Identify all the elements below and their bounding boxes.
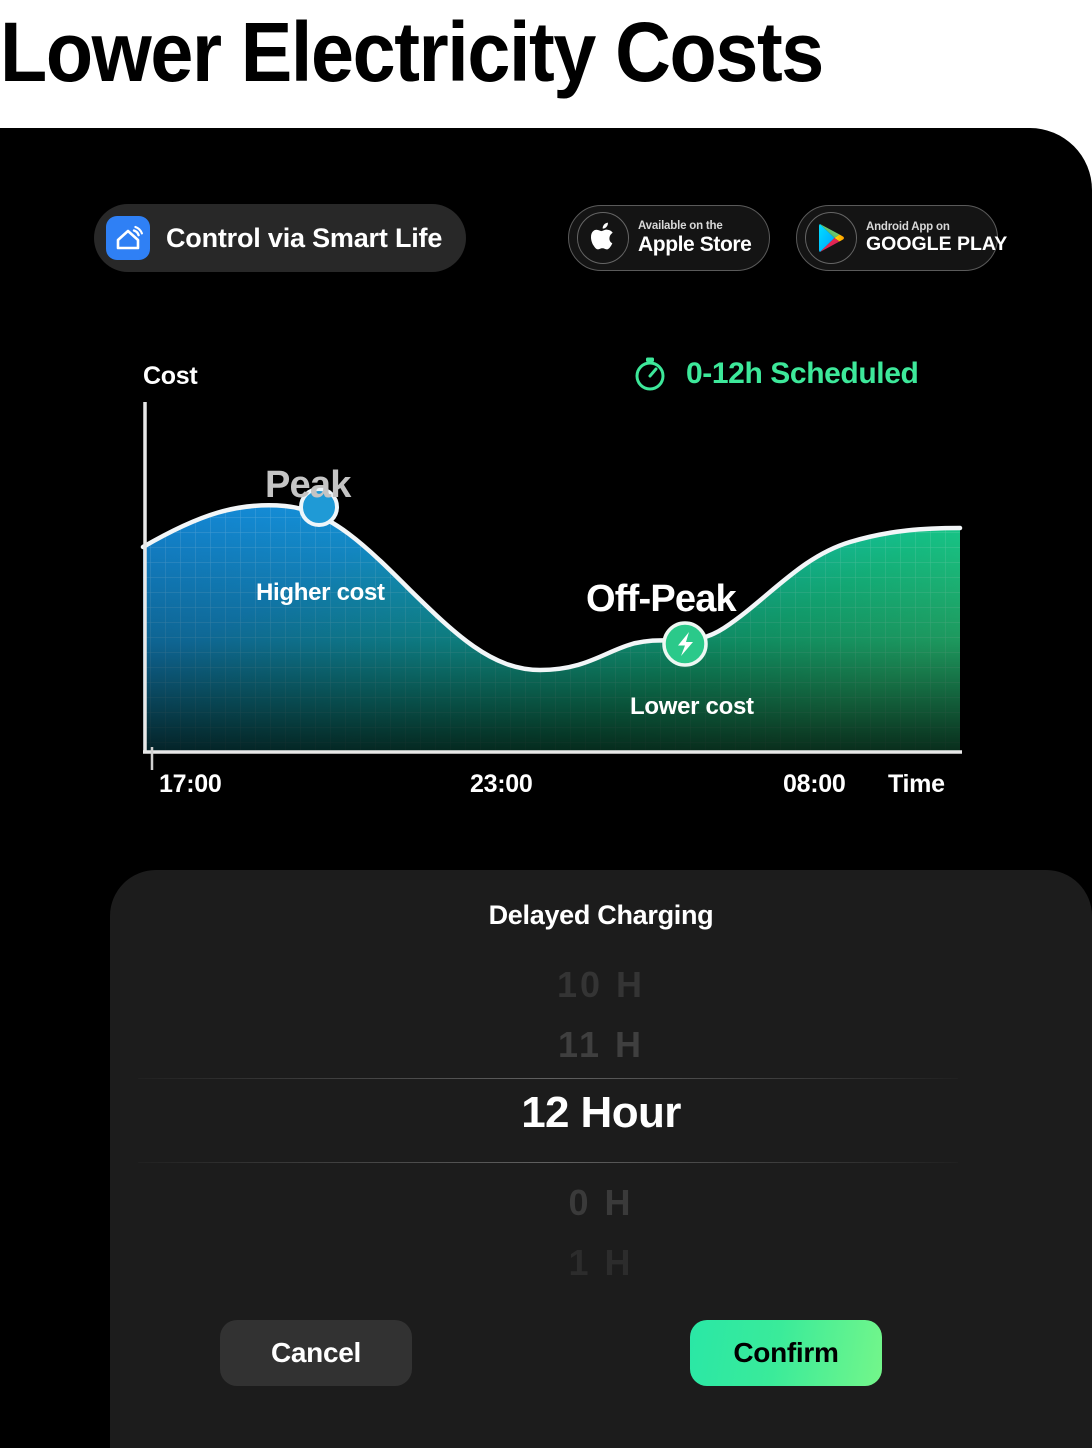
chart-x-tick-label-0: 17:00 — [159, 770, 221, 799]
hour-picker[interactable]: 10 H 11 H 12 Hour 0 H 1 H — [110, 964, 1092, 1298]
sheet-actions: Cancel Confirm — [110, 1320, 1092, 1396]
google-play-small-label: Android App on — [866, 221, 1007, 233]
smart-life-home-icon — [106, 216, 150, 260]
chart-plot — [0, 352, 1092, 812]
badge-row: Control via Smart Life Available on the … — [0, 204, 1092, 278]
higher-cost-label: Higher cost — [256, 579, 385, 607]
picker-option[interactable]: 11 H — [110, 1024, 1092, 1066]
cost-over-time-chart: Cost 0-12h Scheduled — [0, 352, 1092, 812]
sheet-title: Delayed Charging — [110, 900, 1092, 931]
apple-store-small-label: Available on the — [638, 220, 751, 232]
lower-cost-label: Lower cost — [630, 693, 754, 721]
picker-selected-option[interactable]: 12 Hour — [110, 1088, 1092, 1138]
picker-option[interactable]: 1 H — [110, 1242, 1092, 1284]
apple-store-big-label: Apple Store — [638, 234, 751, 256]
picker-separator-bottom — [138, 1162, 958, 1163]
chart-area-fill — [143, 502, 960, 752]
picker-option[interactable]: 0 H — [110, 1182, 1092, 1224]
off-peak-label: Off-Peak — [586, 578, 736, 621]
google-play-big-label: GOOGLE PLAY — [866, 234, 1007, 254]
picker-option[interactable]: 10 H — [110, 964, 1092, 1006]
page-title: Lower Electricity Costs — [0, 0, 1005, 108]
apple-store-text: Available on the Apple Store — [638, 220, 751, 255]
off-peak-marker-bolt — [664, 623, 706, 665]
chart-x-axis-label: Time — [888, 770, 945, 799]
cancel-button[interactable]: Cancel — [220, 1320, 412, 1386]
peak-label: Peak — [265, 464, 351, 507]
apple-logo-icon — [577, 212, 629, 264]
control-via-smart-life-badge[interactable]: Control via Smart Life — [94, 204, 466, 272]
control-via-smart-life-label: Control via Smart Life — [166, 223, 442, 254]
confirm-button[interactable]: Confirm — [690, 1320, 882, 1386]
google-play-text: Android App on GOOGLE PLAY — [866, 221, 1007, 255]
apple-store-badge[interactable]: Available on the Apple Store — [568, 205, 770, 271]
google-play-icon — [805, 212, 857, 264]
delayed-charging-sheet: Delayed Charging 10 H 11 H 12 Hour 0 H 1… — [110, 870, 1092, 1448]
picker-separator-top — [138, 1078, 958, 1079]
chart-x-tick-label-1: 23:00 — [470, 770, 532, 799]
google-play-badge[interactable]: Android App on GOOGLE PLAY — [796, 205, 998, 271]
chart-x-tick-label-2: 08:00 — [783, 770, 845, 799]
